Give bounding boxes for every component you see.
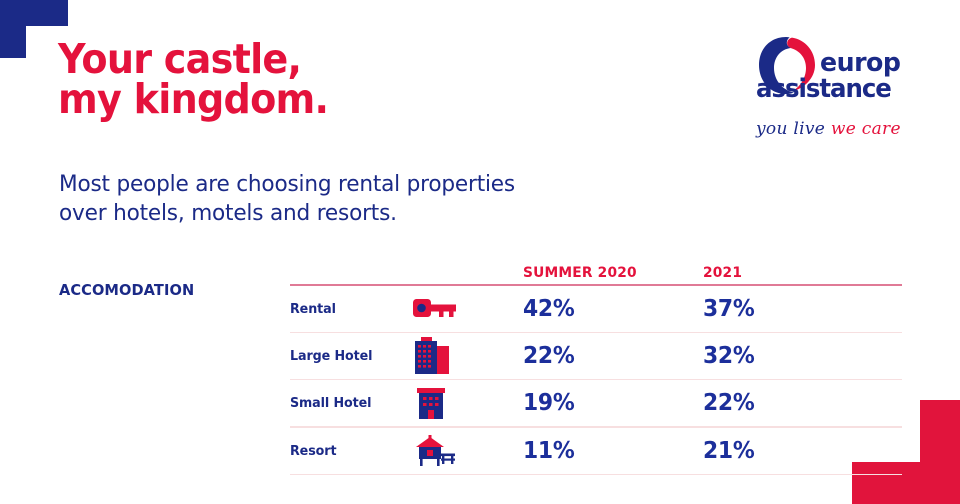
- accommodation-table: SUMMER 2020 2021 Rental 4: [290, 255, 902, 475]
- logo-tagline-red: we care: [831, 119, 901, 139]
- row-label-cell: Small Hotel: [290, 395, 397, 411]
- infographic-page: Your castle, my kingdom. Most people are…: [0, 0, 960, 504]
- logo-wordmark: europ assistance: [820, 52, 916, 76]
- row-label-cell: Large Hotel: [290, 348, 397, 364]
- value-cell-summer-2020: 22%: [523, 343, 703, 369]
- table-row: Small Hotel 1: [290, 380, 902, 426]
- table-row: Rental 42% 37%: [290, 286, 902, 332]
- subtitle: Most people are choosing rental properti…: [59, 170, 515, 228]
- logo: europ assistance you live we care: [752, 33, 912, 155]
- header-cell-2021: 2021: [703, 265, 883, 284]
- table-header-row: SUMMER 2020 2021: [290, 255, 902, 284]
- resort-bungalow-icon: [397, 435, 523, 467]
- table-row: Large Hotel: [290, 333, 902, 379]
- logo-word-assistance: assistance: [756, 78, 891, 102]
- corner-bracket-horizontal-arm: [0, 0, 68, 26]
- logo-tagline-blue: you live: [756, 119, 825, 139]
- logo-tagline: you live we care: [756, 119, 901, 139]
- value-cell-2021: 21%: [703, 438, 883, 464]
- headline: Your castle, my kingdom.: [58, 40, 328, 120]
- logo-word-europ: europ: [820, 52, 913, 76]
- row-label-cell: Resort: [290, 443, 397, 459]
- header-cell-summer-2020: SUMMER 2020: [523, 265, 703, 284]
- small-building-icon: [397, 388, 523, 419]
- value-cell-summer-2020: 19%: [523, 390, 703, 416]
- value-cell-2021: 37%: [703, 296, 883, 322]
- value-cell-2021: 32%: [703, 343, 883, 369]
- section-label-accommodation: ACCOMODATION: [59, 281, 194, 299]
- large-building-icon: [397, 337, 523, 374]
- value-cell-summer-2020: 11%: [523, 438, 703, 464]
- value-cell-2021: 22%: [703, 390, 883, 416]
- value-cell-summer-2020: 42%: [523, 296, 703, 322]
- key-icon: [397, 298, 523, 320]
- table-bottom-rule: [290, 474, 902, 475]
- row-label-cell: Rental: [290, 301, 397, 317]
- table-row: Resort 11% 21%: [290, 428, 902, 474]
